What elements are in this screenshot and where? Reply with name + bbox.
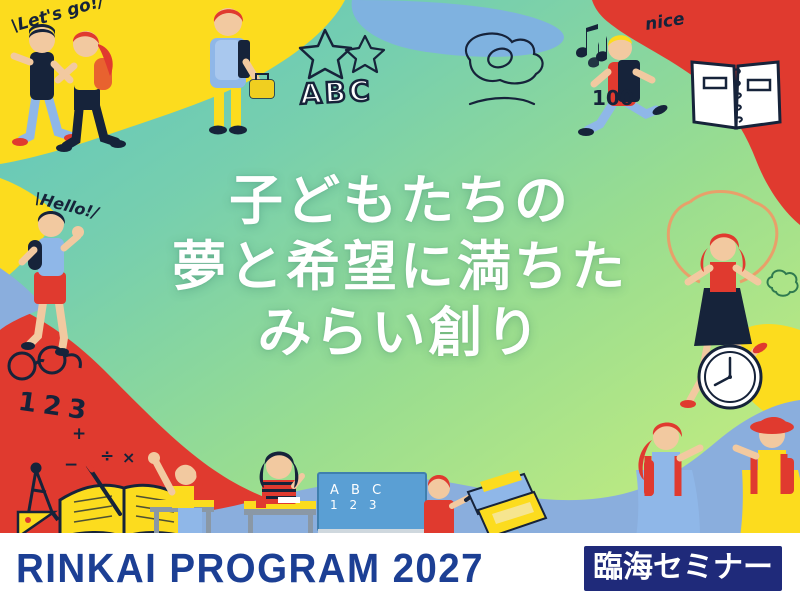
- doodle-score-100-text: 100: [592, 86, 634, 110]
- bottom-banner: RINKAI PROGRAM 2027 臨海セミナー: [0, 537, 800, 600]
- chalkboard-abc-text: A B C: [330, 483, 385, 498]
- doodle-operator-plus: +: [72, 424, 86, 444]
- doodle-operator-minus: −: [64, 455, 78, 475]
- program-title: RINKAI PROGRAM 2027: [16, 545, 484, 592]
- illustration-canvas: \Let's go!/ \Hello!/ nice ABC 100 123 + …: [0, 0, 800, 537]
- poster-root: \Let's go!/ \Hello!/ nice ABC 100 123 + …: [0, 0, 800, 600]
- rinkai-seminar-logo-text: 臨海セミナー: [593, 551, 773, 585]
- doodle-abc-text: ABC: [299, 74, 373, 111]
- illustration-svg: [0, 0, 800, 537]
- object-clock: [699, 346, 761, 408]
- rinkai-seminar-logo: 臨海セミナー: [584, 546, 782, 591]
- chalkboard-123-text: 1 2 3: [330, 498, 381, 512]
- doodle-operator-times: ×: [122, 448, 135, 467]
- doodle-operator-divide: ÷: [100, 446, 114, 466]
